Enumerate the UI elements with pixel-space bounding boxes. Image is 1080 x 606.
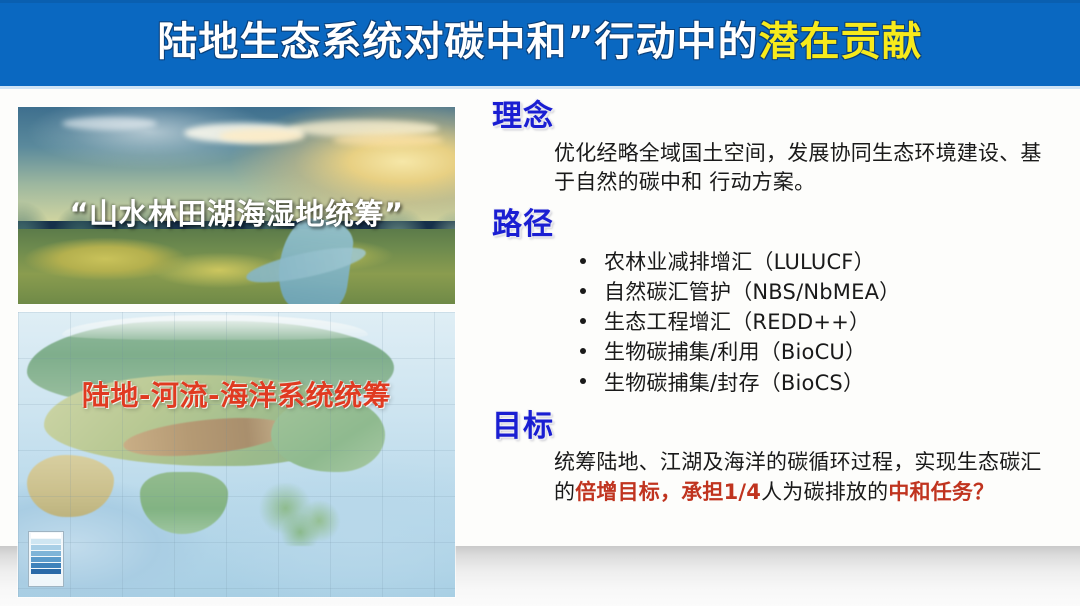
list-item: 生态工程增汇（REDD++） <box>580 307 1062 337</box>
section-path: 路径 农林业减排增汇（LULUCF） 自然碳汇管护（NBS/NbMEA） 生态工… <box>492 208 1062 398</box>
list-item: 农林业减排增汇（LULUCF） <box>580 247 1062 277</box>
goal-highlight-2: 中和任务？ <box>888 480 994 504</box>
list-item: 生物碳捕集/封存（BioCS） <box>580 368 1062 398</box>
section-path-heading: 路径 <box>492 208 1062 243</box>
page-title: 陆地生态系统对碳中和”行动中的潜在贡献 <box>0 15 1080 69</box>
content-column: 理念 优化经略全域国土空间，发展协同生态环境建设、基于自然的碳中和 行动方案。 … <box>492 100 1062 508</box>
cloud-shape <box>333 134 443 146</box>
title-banner: 陆地生态系统对碳中和”行动中的潜在贡献 <box>0 0 1080 86</box>
list-item-label: 生物碳捕集/利用（BioCU） <box>604 340 866 364</box>
list-item-label: 生态工程增汇（REDD++） <box>604 310 870 334</box>
list-item: 自然碳汇管护（NBS/NbMEA） <box>580 277 1062 307</box>
goal-highlight-1: 倍增目标，承担1/4 <box>575 480 761 504</box>
legend-swatch <box>31 563 61 568</box>
path-bullet-list: 农林业减排增汇（LULUCF） 自然碳汇管护（NBS/NbMEA） 生态工程增汇… <box>492 247 1062 398</box>
photo-caption: “山水林田湖海湿地统筹” <box>18 191 455 233</box>
goal-text-part-2: 人为碳排放的 <box>761 480 888 504</box>
karst-landscape-photo: “山水林田湖海湿地统筹” <box>18 107 455 304</box>
bullet-dot-icon <box>580 288 586 294</box>
legend-swatch <box>31 569 61 574</box>
bullet-dot-icon <box>580 258 586 264</box>
list-item-label: 农林业减排增汇（LULUCF） <box>604 250 875 274</box>
legend-swatch <box>31 533 61 538</box>
page-title-yellow-part: 潜在贡献 <box>759 19 923 65</box>
legend-swatch <box>31 557 61 562</box>
section-idea: 理念 优化经略全域国土空间，发展协同生态环境建设、基于自然的碳中和 行动方案。 <box>492 100 1062 198</box>
legend-swatch <box>31 551 61 556</box>
bullet-dot-icon <box>580 318 586 324</box>
map-caption: 陆地-河流-海洋系统统筹 <box>18 374 455 414</box>
legend-swatch <box>31 545 61 550</box>
slide-root: 陆地生态系统对碳中和”行动中的潜在贡献 “山水林田湖海湿地统筹” <box>0 0 1080 606</box>
map-legend <box>28 531 64 587</box>
map-graticule-grid <box>18 312 455 597</box>
list-item-label: 生物碳捕集/封存（BioCS） <box>604 371 864 395</box>
section-idea-heading: 理念 <box>492 100 1062 135</box>
legend-swatch <box>31 539 61 544</box>
media-column: “山水林田湖海湿地统筹” 陆地-河流-海洋系统统筹 <box>18 107 455 597</box>
farmland-valley-layer <box>18 229 455 304</box>
bullet-dot-icon <box>580 378 586 384</box>
section-goal: 目标 统筹陆地、江湖及海洋的碳循环过程，实现生态碳汇的倍增目标，承担1/4人为碳… <box>492 410 1062 508</box>
page-title-white-part: 陆地生态系统对碳中和”行动中的 <box>157 19 758 65</box>
list-item-label: 自然碳汇管护（NBS/NbMEA） <box>604 280 900 304</box>
bullet-dot-icon <box>580 348 586 354</box>
section-idea-body: 优化经略全域国土空间，发展协同生态环境建设、基于自然的碳中和 行动方案。 <box>554 139 1062 199</box>
section-goal-heading: 目标 <box>492 410 1062 445</box>
cloud-shape <box>62 117 157 130</box>
section-goal-body: 统筹陆地、江湖及海洋的碳循环过程，实现生态碳汇的倍增目标，承担1/4人为碳排放的… <box>554 448 1062 508</box>
asia-physical-relief-map: 陆地-河流-海洋系统统筹 <box>18 312 455 597</box>
list-item: 生物碳捕集/利用（BioCU） <box>580 337 1062 367</box>
